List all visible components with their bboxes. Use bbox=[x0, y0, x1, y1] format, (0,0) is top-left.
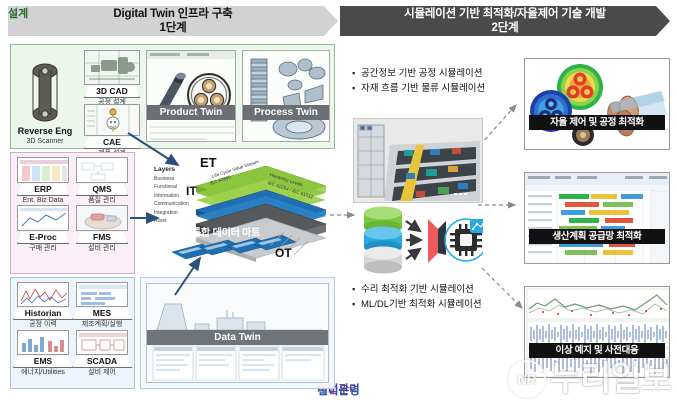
watermark-logo: NR bbox=[508, 360, 546, 398]
result-panel-autonomous-control: 자율 제어 및 공정 최적화 bbox=[524, 58, 670, 150]
arrow-twin-to-mart bbox=[175, 258, 200, 295]
bullet-bottom-2: ▪ML/DL기반 최적화 시뮬레이션 bbox=[352, 297, 482, 312]
result-caption-supply-chain: 생산계획 공급망 최적화 bbox=[529, 229, 665, 244]
database-icon bbox=[364, 207, 402, 274]
arrow-sim-to-result1 bbox=[480, 105, 516, 145]
result-caption-autonomous-control: 자율 제어 및 공정 최적화 bbox=[529, 115, 665, 130]
transform-prism-icon bbox=[428, 219, 446, 263]
plant-simulation-image bbox=[353, 118, 483, 203]
data-mart-label: 통합 데이터 마트 bbox=[192, 224, 260, 239]
watermark-text: 누리일보 bbox=[550, 362, 671, 396]
data-to-ai-pipeline bbox=[358, 205, 483, 280]
result-panel-supply-chain: 생산계획 공급망 최적화 bbox=[524, 172, 670, 264]
watermark: NR 누리일보 bbox=[508, 360, 671, 398]
phase2-bullets-top: ▪공간정보 기반 공정 시뮬레이션 ▪자재 흐름 기반 물류 시뮬레이션 bbox=[352, 66, 485, 96]
bullet-top-1: ▪공간정보 기반 공정 시뮬레이션 bbox=[352, 66, 485, 81]
arrow-design-to-mart bbox=[128, 133, 178, 165]
phase2-bullets-bottom: ▪수리 최적화 기반 시뮬레이션 ▪ML/DL기반 최적화 시뮬레이션 bbox=[352, 282, 482, 312]
result-caption-anomaly-detection: 이상 예지 및 사전대응 bbox=[529, 343, 665, 358]
bullet-top-2: ▪자재 흐름 기반 물류 시뮬레이션 bbox=[352, 81, 485, 96]
bullet-bottom-1: ▪수리 최적화 기반 시뮬레이션 bbox=[352, 282, 482, 297]
ai-chip-icon bbox=[445, 219, 483, 261]
arrow-sim-to-result3 bbox=[482, 268, 522, 308]
